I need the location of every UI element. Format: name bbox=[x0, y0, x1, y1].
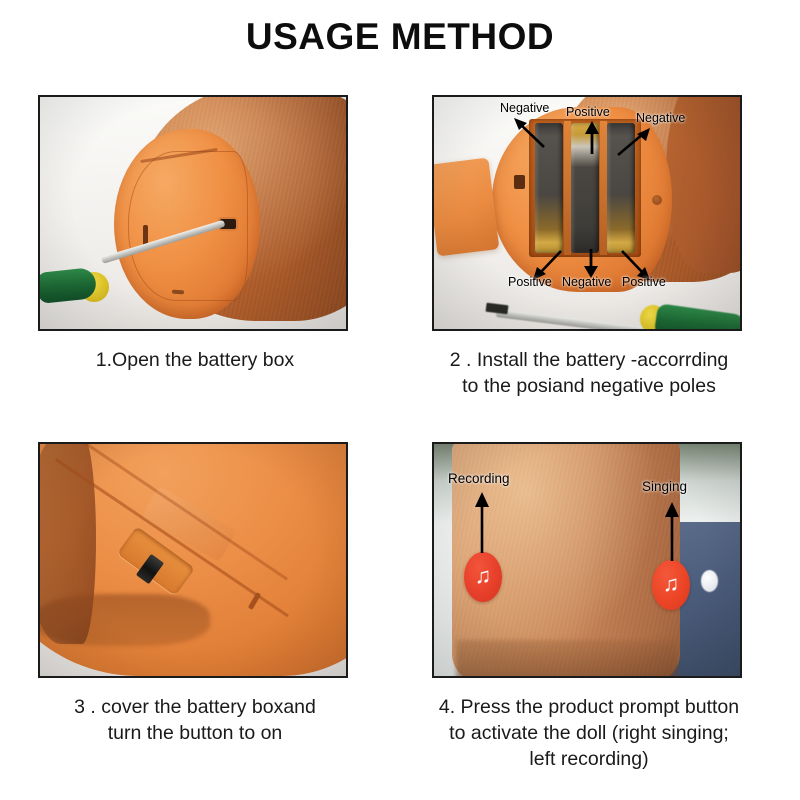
compartment-divider-1 bbox=[564, 121, 571, 255]
arrow-up-icon bbox=[582, 121, 602, 155]
music-note-icon: ♫ bbox=[663, 573, 680, 595]
plush-shadow-band bbox=[40, 594, 210, 646]
caption-line: left recording) bbox=[432, 746, 746, 772]
annotation-label-positive-bottom-right: Positive bbox=[622, 275, 666, 289]
annotation-label-recording: Recording bbox=[448, 472, 510, 486]
housing-latch-slot bbox=[514, 175, 525, 189]
annotation-label-negative-top-right: Negative bbox=[636, 111, 685, 125]
singing-button[interactable]: ♫ bbox=[652, 560, 690, 610]
step-3: 3 . cover the battery boxand turn the bu… bbox=[38, 442, 352, 746]
arrow-up-icon bbox=[472, 492, 492, 554]
annotation-label-positive-top-center: Positive bbox=[566, 105, 610, 119]
recording-button[interactable]: ♫ bbox=[464, 552, 502, 602]
caption-line: 4. Press the product prompt button bbox=[432, 694, 746, 720]
step-4: ♫ Recording ♫ Singing 4. bbox=[432, 442, 746, 772]
prompt-buttons-photo: ♫ Recording ♫ Singing bbox=[432, 442, 742, 678]
caption-line: to activate the doll (right singing; bbox=[432, 720, 746, 746]
step-1: 1.Open the battery box bbox=[38, 95, 352, 373]
white-highlight-spot bbox=[701, 570, 718, 592]
page-title: USAGE METHOD bbox=[0, 16, 800, 58]
annotation-label-singing: Singing bbox=[642, 480, 687, 494]
arrow-up-icon bbox=[662, 502, 682, 562]
caption-line: 3 . cover the battery boxand bbox=[38, 694, 352, 720]
arrow-up-right-icon bbox=[616, 127, 652, 157]
housing-screw-hole bbox=[652, 195, 662, 205]
step-2-caption: 2 . Install the battery -accorrding to t… bbox=[432, 347, 746, 399]
step-3-caption: 3 . cover the battery boxand turn the bu… bbox=[38, 694, 352, 746]
annotation-label-negative-top-left: Negative bbox=[500, 101, 549, 115]
plush-bottom-shadow bbox=[456, 640, 678, 676]
step-1-caption: 1.Open the battery box bbox=[38, 347, 352, 373]
caption-line: 1.Open the battery box bbox=[38, 347, 352, 373]
caption-line: 2 . Install the battery -accorrding bbox=[432, 347, 746, 373]
step-4-caption: 4. Press the product prompt button to ac… bbox=[432, 694, 746, 772]
removed-lid bbox=[434, 158, 499, 257]
arrow-up-left-icon bbox=[512, 117, 548, 149]
music-note-icon: ♫ bbox=[475, 565, 492, 587]
battery-box-screwdriver-photo bbox=[38, 95, 348, 331]
caption-line: to the posiand negative poles bbox=[432, 373, 746, 399]
step-2: Negative Positive Negative bbox=[432, 95, 746, 399]
caption-line: turn the button to on bbox=[38, 720, 352, 746]
power-switch-photo bbox=[38, 442, 348, 678]
lower-vent-slot bbox=[172, 290, 184, 295]
battery-installation-photo: Negative Positive Negative bbox=[432, 95, 742, 331]
annotation-label-negative-bottom-center: Negative bbox=[562, 275, 611, 289]
annotation-label-positive-bottom-left: Positive bbox=[508, 275, 552, 289]
